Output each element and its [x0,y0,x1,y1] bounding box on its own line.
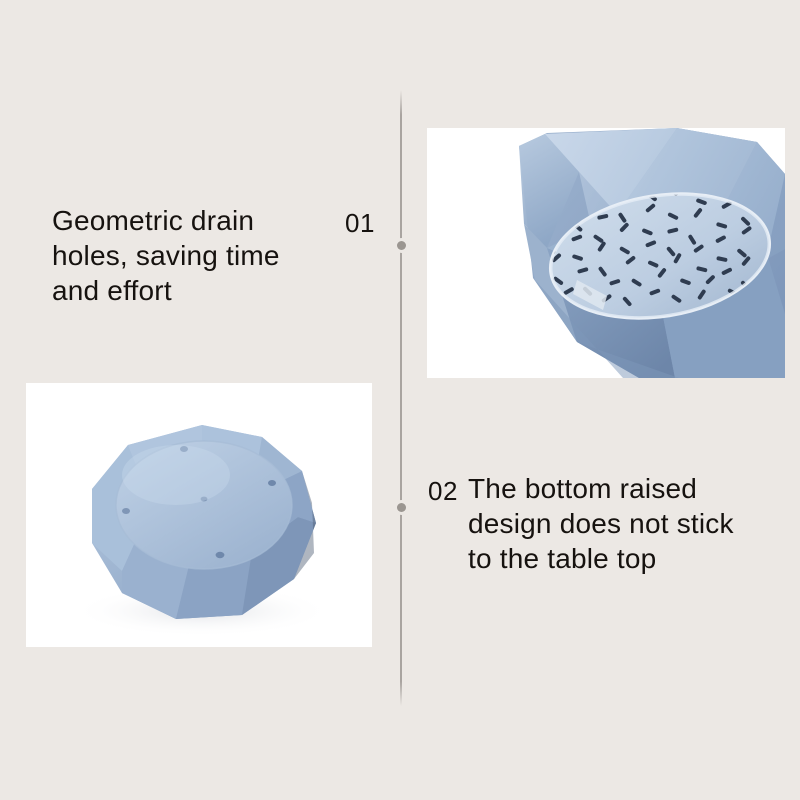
infographic-page: Geometric drain holes, saving time and e… [0,0,800,800]
step-1-number: 01 [345,207,375,239]
step-1-photo [427,128,785,378]
step-2-photo [26,383,372,647]
drain-basket-illustration [427,128,785,378]
timeline-line [400,90,402,706]
step-2-number: 02 [428,475,458,507]
step-2-caption: The bottom raised design does not stick … [468,471,780,576]
timeline-dot-step-1 [397,241,406,250]
step-1-caption: Geometric drain holes, saving time and e… [52,203,342,308]
timeline-dot-step-2 [397,503,406,512]
basket-bottom-illustration [26,383,372,647]
